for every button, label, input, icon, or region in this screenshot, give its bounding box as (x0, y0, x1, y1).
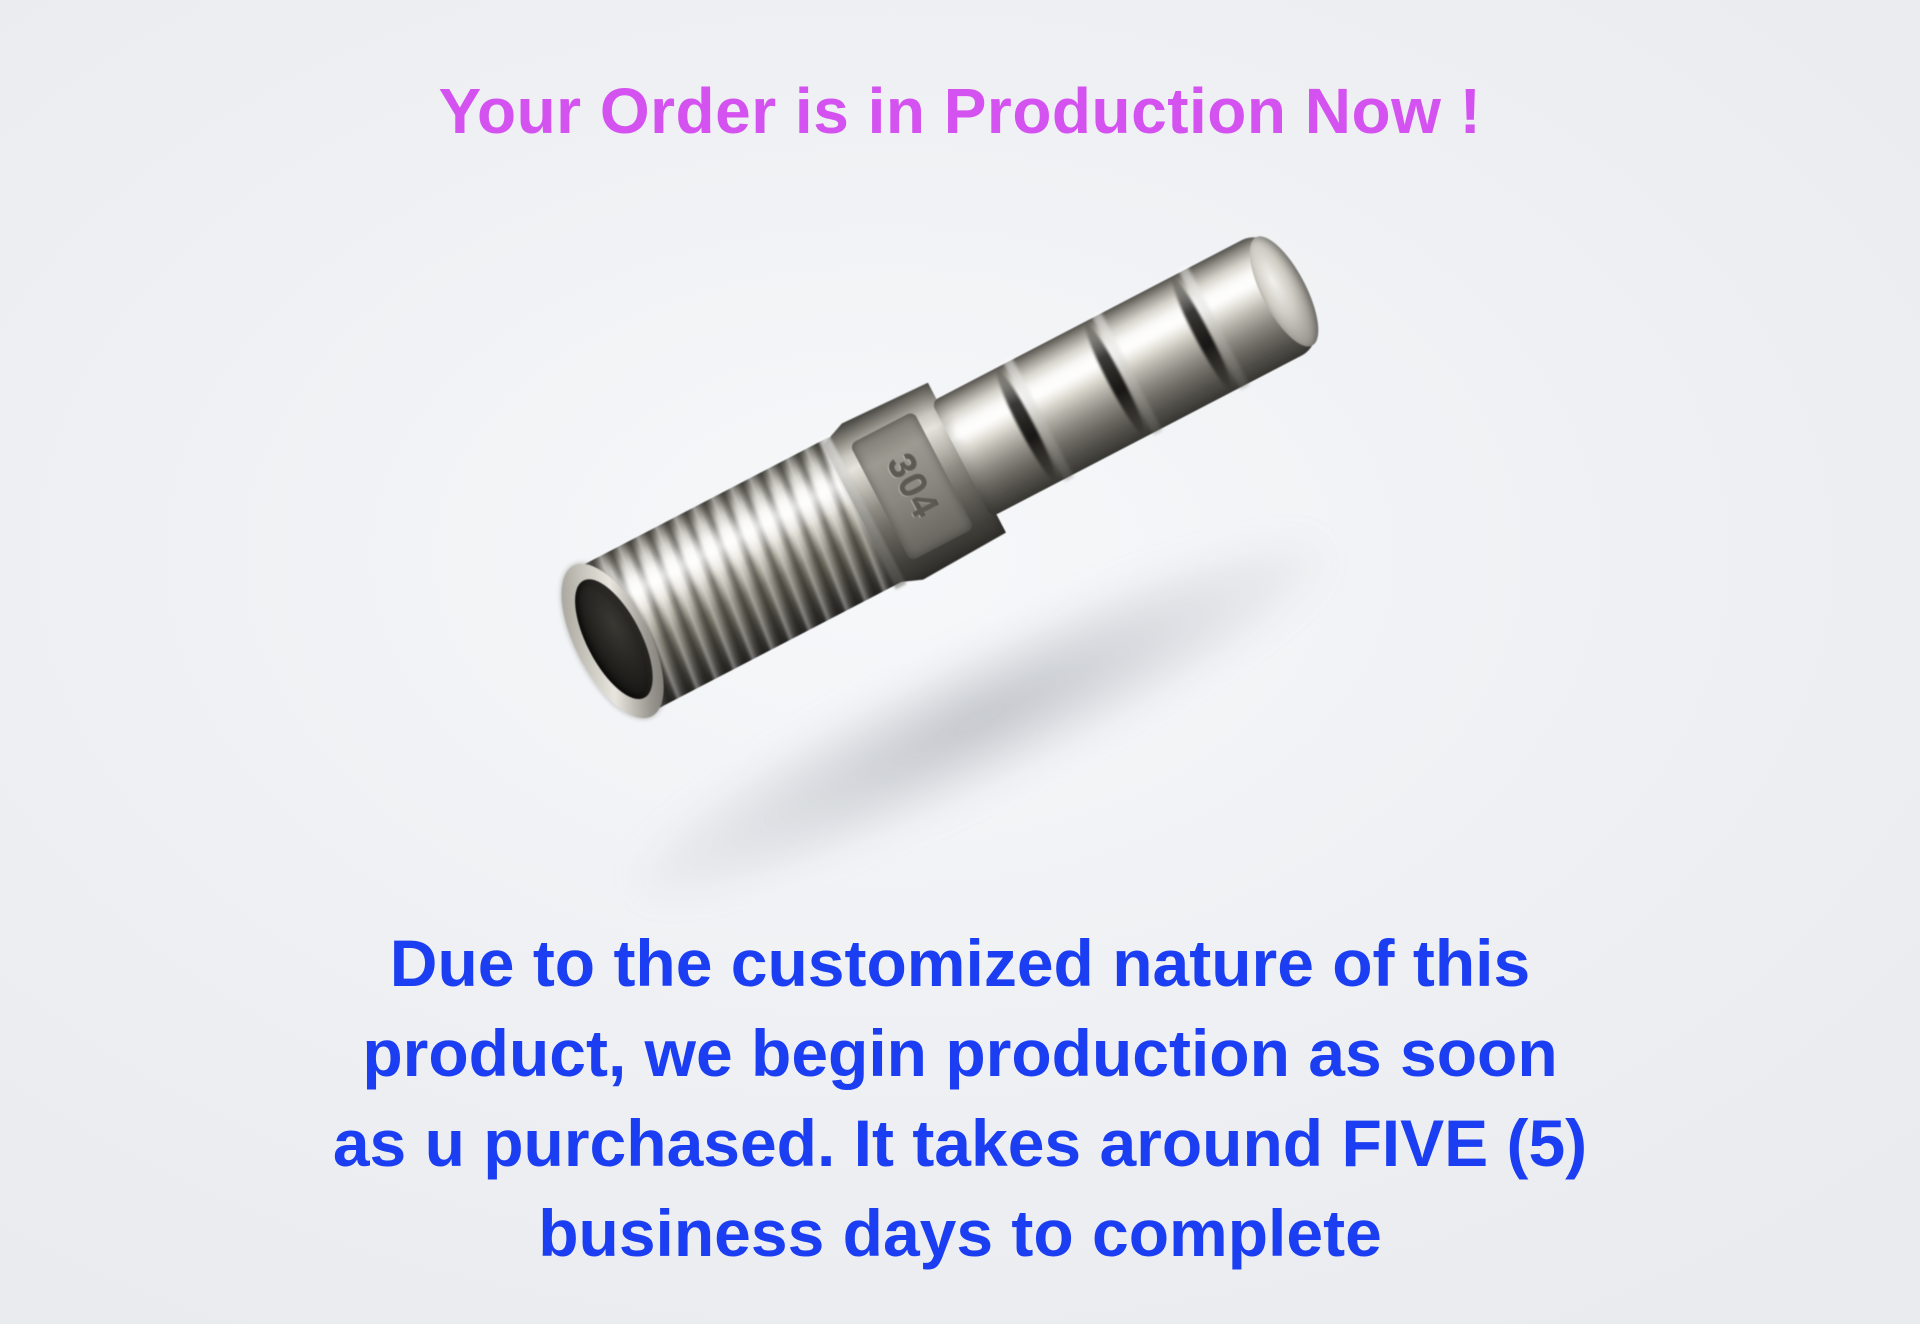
notice-line: Due to the customized nature of this (0, 918, 1920, 1008)
page-title: Your Order is in Production Now ! (0, 78, 1920, 145)
notice-line: product, we begin production as soon (0, 1008, 1920, 1098)
production-notice-poster: Your Order is in Production Now ! 304 (0, 0, 1920, 1324)
product-photo: 304 (0, 250, 1920, 850)
notice-line: business days to complete (0, 1188, 1920, 1278)
notice-line: as u purchased. It takes around FIVE (5) (0, 1098, 1920, 1188)
production-notice-text: Due to the customized nature of this pro… (0, 918, 1920, 1278)
